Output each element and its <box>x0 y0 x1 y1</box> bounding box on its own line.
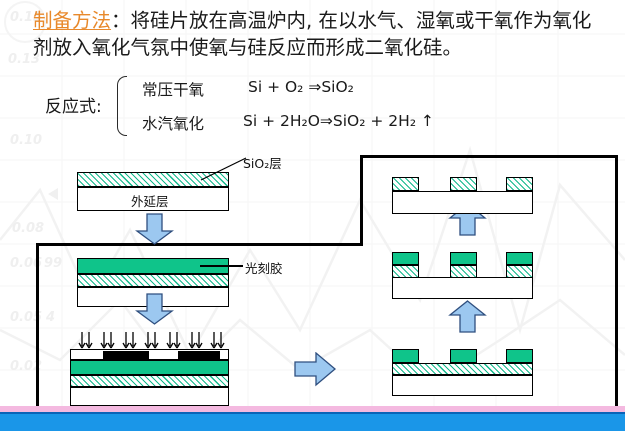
photoresist-label: 光刻胶 <box>245 258 283 277</box>
stage5-epitaxial-layer <box>392 277 533 299</box>
stage6-oxide-island-3 <box>506 177 533 191</box>
heading-colon: ： <box>111 9 131 32</box>
oxide-layer-label: SiO₂层 <box>243 153 282 172</box>
stage3-mask-block-2 <box>178 351 220 359</box>
slide-canvas: 0.15 0.13 0.10 0.08 0.06 99 0.05 4 0.02 … <box>0 0 625 431</box>
heading-keyword: 制备方法 <box>33 9 111 32</box>
reaction-row-0-equation: Si + O₂ ⇒SiO₂ <box>248 78 354 96</box>
reaction-brace <box>113 76 127 134</box>
watermark-label: 0.08 <box>12 221 44 236</box>
reaction-label: 反应式: <box>45 92 102 117</box>
flow-arrow-down-1 <box>135 213 175 246</box>
stage3-mask-block-1 <box>103 351 149 359</box>
stage4-resist-island-3 <box>506 349 533 363</box>
flow-arrow-down-2 <box>135 293 175 326</box>
frame-top-left <box>36 243 363 246</box>
flow-arrow-right <box>294 352 338 387</box>
stage3-oxide-layer <box>70 375 229 387</box>
frame-left <box>36 243 39 423</box>
photoresist-leader-line <box>200 265 243 267</box>
stage4-resist-island-2 <box>450 349 477 363</box>
frame-right <box>615 155 618 420</box>
reaction-row-1-name: 水汽氧化 <box>142 112 204 134</box>
heading-paragraph: 制备方法：将硅片放在高温炉内, 在以水气、湿氧或干氧作为氧化剂放入氧化气氛中使氧… <box>33 7 608 61</box>
bottom-blue-bar <box>0 414 625 431</box>
frame-top-right <box>360 155 618 158</box>
reaction-row-0-name: 常压干氧 <box>142 78 204 100</box>
stage4-oxide-layer <box>392 363 533 375</box>
stage3-photoresist-layer <box>70 360 229 375</box>
watermark-label: 4 <box>46 310 55 325</box>
stage6-epitaxial-layer <box>392 191 533 214</box>
flow-arrow-up-1 <box>448 300 488 334</box>
stage5-resist-island-1 <box>392 252 419 265</box>
watermark-label: 99 <box>44 256 62 271</box>
stage4-epitaxial-layer <box>392 375 533 396</box>
stage4-resist-island-1 <box>392 349 419 363</box>
watermark-label: 0.10 <box>10 133 42 148</box>
epitaxial-layer-label: 外延层 <box>131 191 159 210</box>
stage3-epitaxial-layer <box>70 387 229 406</box>
stage6-oxide-island-1 <box>392 177 419 191</box>
stage5-resist-island-2 <box>450 252 477 265</box>
reaction-row-1-equation: Si + 2H₂O⇒SiO₂ + 2H₂ ↑ <box>243 112 434 130</box>
stage5-resist-island-3 <box>506 252 533 265</box>
stage6-oxide-island-2 <box>450 177 477 191</box>
stage2-oxide-layer <box>77 274 229 287</box>
frame-step-vertical <box>360 155 363 246</box>
